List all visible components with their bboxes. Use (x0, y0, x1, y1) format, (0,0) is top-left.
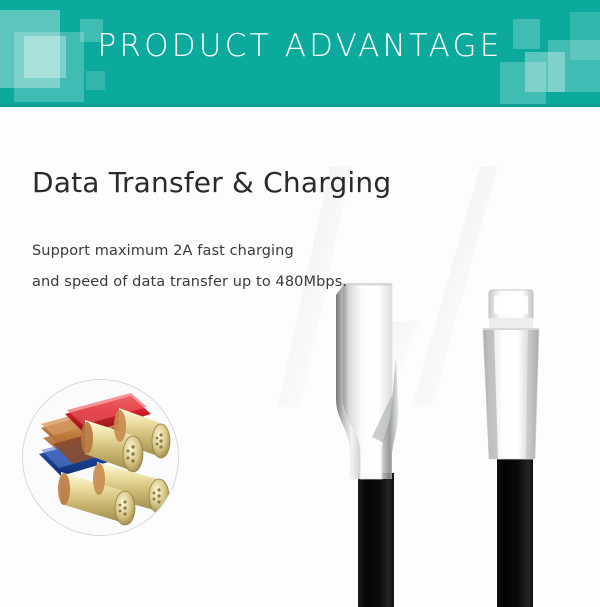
wire-strand-closeup (22, 379, 179, 536)
section-heading: Data Transfer & Charging (32, 166, 391, 199)
connector-left-facet (372, 395, 392, 443)
connector-left-body (342, 284, 392, 479)
connector-right-right-shade (526, 329, 539, 459)
connector-left-bevel (336, 287, 360, 479)
cable-right (497, 456, 533, 607)
connector-left-top-edge (342, 283, 392, 286)
connector-left-edge (382, 357, 398, 479)
cable-left (358, 473, 394, 607)
crimp-ring-2 (81, 422, 93, 454)
header-banner: PRODUCT ADVANTAGE (0, 0, 600, 107)
shadow-center (348, 321, 420, 437)
wire-strand-illustration (23, 380, 178, 535)
crimp-ring-3 (93, 463, 105, 495)
crimp-ring-4 (58, 473, 70, 505)
feature-line-2: and speed of data transfer up to 480Mbps… (32, 274, 347, 290)
square-small-lower (86, 71, 105, 90)
content-area: Data Transfer & Charging Support maximum… (0, 107, 600, 607)
connector-right-tip (489, 290, 533, 320)
square-right-bottom (500, 62, 546, 107)
connector-right-body (483, 329, 539, 459)
feature-line-1: Support maximum 2A fast charging (32, 243, 294, 259)
connector-right-collar (483, 328, 539, 330)
product-advantage-banner: PRODUCT ADVANTAGE (0, 0, 600, 607)
shadow-right (412, 165, 498, 407)
page-title: PRODUCT ADVANTAGE (0, 28, 600, 64)
connector-right-tip-inner (494, 296, 528, 314)
connector-right-left-shade (483, 329, 498, 459)
crimp-ring-1 (114, 410, 126, 442)
connector-right-neck (489, 318, 533, 332)
